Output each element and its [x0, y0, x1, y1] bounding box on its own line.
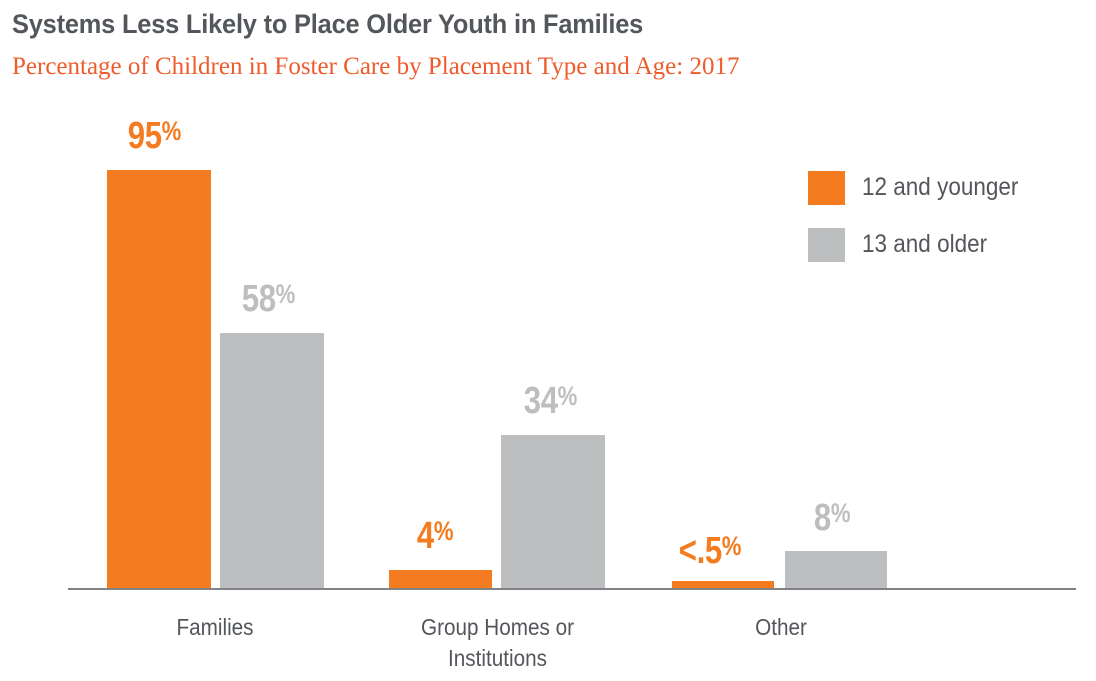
x-axis-label-group-homes: Group Homes or Institutions: [396, 612, 599, 674]
bar-value-number: 4: [417, 515, 434, 557]
bar-label-group-homes-12-and-younger: 4%: [417, 512, 453, 555]
percent-sign: %: [722, 531, 741, 561]
bar-label-other-13-and-older: 8%: [814, 494, 850, 537]
bar-value-number: 58: [242, 278, 276, 320]
bar-value-number: 34: [524, 380, 558, 422]
x-axis-label-families: Families: [121, 612, 310, 643]
percent-sign: %: [831, 498, 850, 528]
x-axis-label-line-2: Institutions: [396, 643, 599, 674]
legend-swatch-icon-13-and-older: [808, 228, 845, 262]
legend-label-13-and-older: 13 and older: [862, 225, 987, 263]
legend-label-12-and-younger: 12 and younger: [862, 168, 1018, 206]
bar-value-number: 95: [128, 115, 162, 157]
chart-plot-area: 95% 58% 4% 34% <.5% 8% Families Group Ho…: [0, 0, 1096, 681]
legend-swatch-icon-12-and-younger: [808, 171, 845, 205]
x-axis-label-other: Other: [686, 612, 877, 643]
bar-value-number: 8: [814, 497, 831, 539]
bar-other-12-and-younger[interactable]: [672, 581, 774, 588]
bar-label-other-12-and-younger: <.5%: [679, 527, 741, 570]
bar-group-homes-12-and-younger[interactable]: [389, 570, 492, 588]
percent-sign: %: [162, 116, 181, 146]
x-axis-label-line-1: Other: [686, 612, 877, 643]
bar-label-group-homes-13-and-older: 34%: [524, 377, 577, 420]
bar-families-12-and-younger[interactable]: [107, 170, 211, 588]
bar-label-families-13-and-older: 58%: [242, 275, 295, 318]
bar-label-families-12-and-younger: 95%: [128, 112, 181, 155]
x-axis-label-line-1: Families: [121, 612, 310, 643]
percent-sign: %: [558, 381, 577, 411]
bar-other-13-and-older[interactable]: [785, 551, 887, 588]
bar-families-13-and-older[interactable]: [220, 333, 324, 588]
x-axis-label-line-1: Group Homes or: [396, 612, 599, 643]
x-axis-line: [68, 588, 1076, 590]
bar-group-homes-13-and-older[interactable]: [501, 435, 605, 588]
percent-sign: %: [276, 279, 295, 309]
bar-value-number: <.5: [679, 530, 722, 572]
percent-sign: %: [434, 516, 453, 546]
